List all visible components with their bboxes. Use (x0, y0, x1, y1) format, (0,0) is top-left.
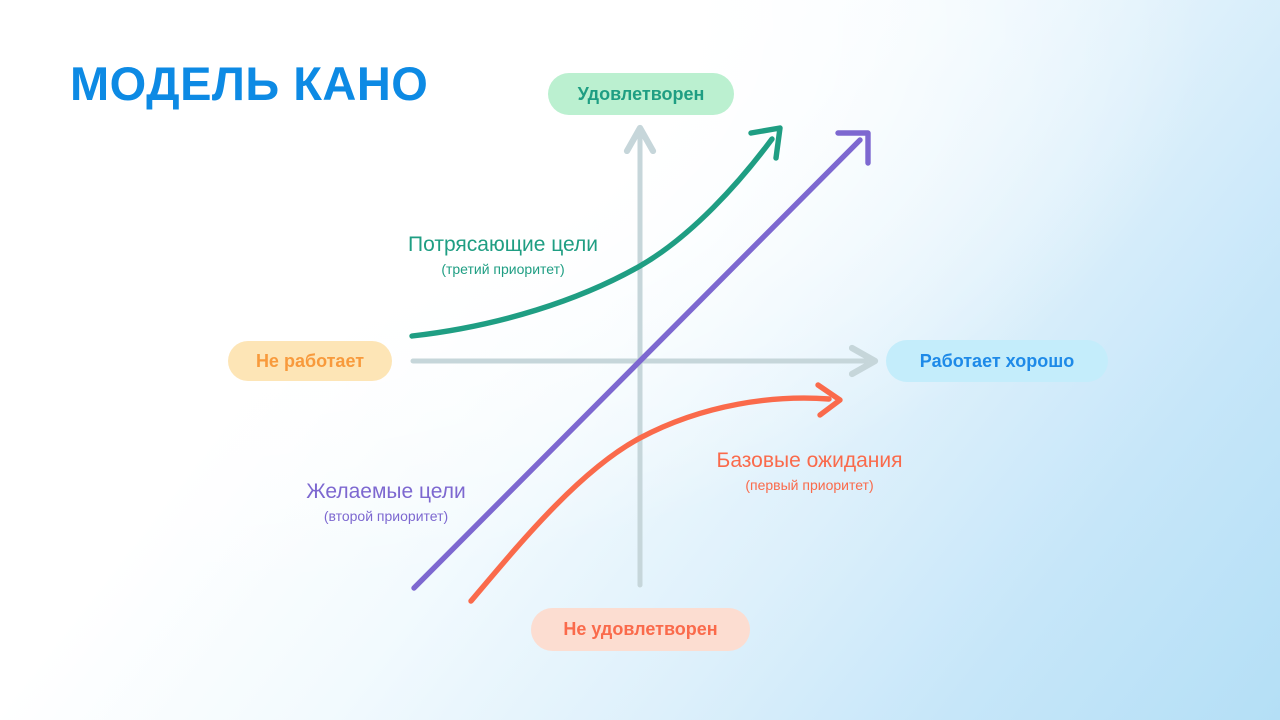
curve-label-delighters-title: Потрясающие цели (393, 232, 613, 258)
kano-model-slide: МОДЕЛЬ КАНО Удовлетворен Не работает Раб… (0, 0, 1280, 720)
curve-label-basic-priority: (первый приоритет) (706, 477, 913, 495)
axis-label-works-well: Работает хорошо (886, 340, 1108, 382)
curve-basic (471, 398, 829, 601)
curve-label-desired: Желаемые цели (второй приоритет) (297, 479, 475, 526)
curve-desired (414, 140, 860, 588)
curve-label-desired-priority: (второй приоритет) (297, 508, 475, 526)
curve-label-desired-title: Желаемые цели (297, 479, 475, 505)
curve-label-delighters: Потрясающие цели (третий приоритет) (393, 232, 613, 279)
curve-label-basic: Базовые ожидания (первый приоритет) (706, 448, 913, 495)
curve-label-basic-title: Базовые ожидания (706, 448, 913, 474)
axis-label-dissatisfied: Не удовлетворен (531, 608, 750, 651)
axis-label-not-working: Не работает (228, 341, 392, 381)
axis-label-satisfied: Удовлетворен (548, 73, 734, 115)
curve-delighters-arrowhead (751, 128, 780, 158)
curve-label-delighters-priority: (третий приоритет) (393, 261, 613, 279)
